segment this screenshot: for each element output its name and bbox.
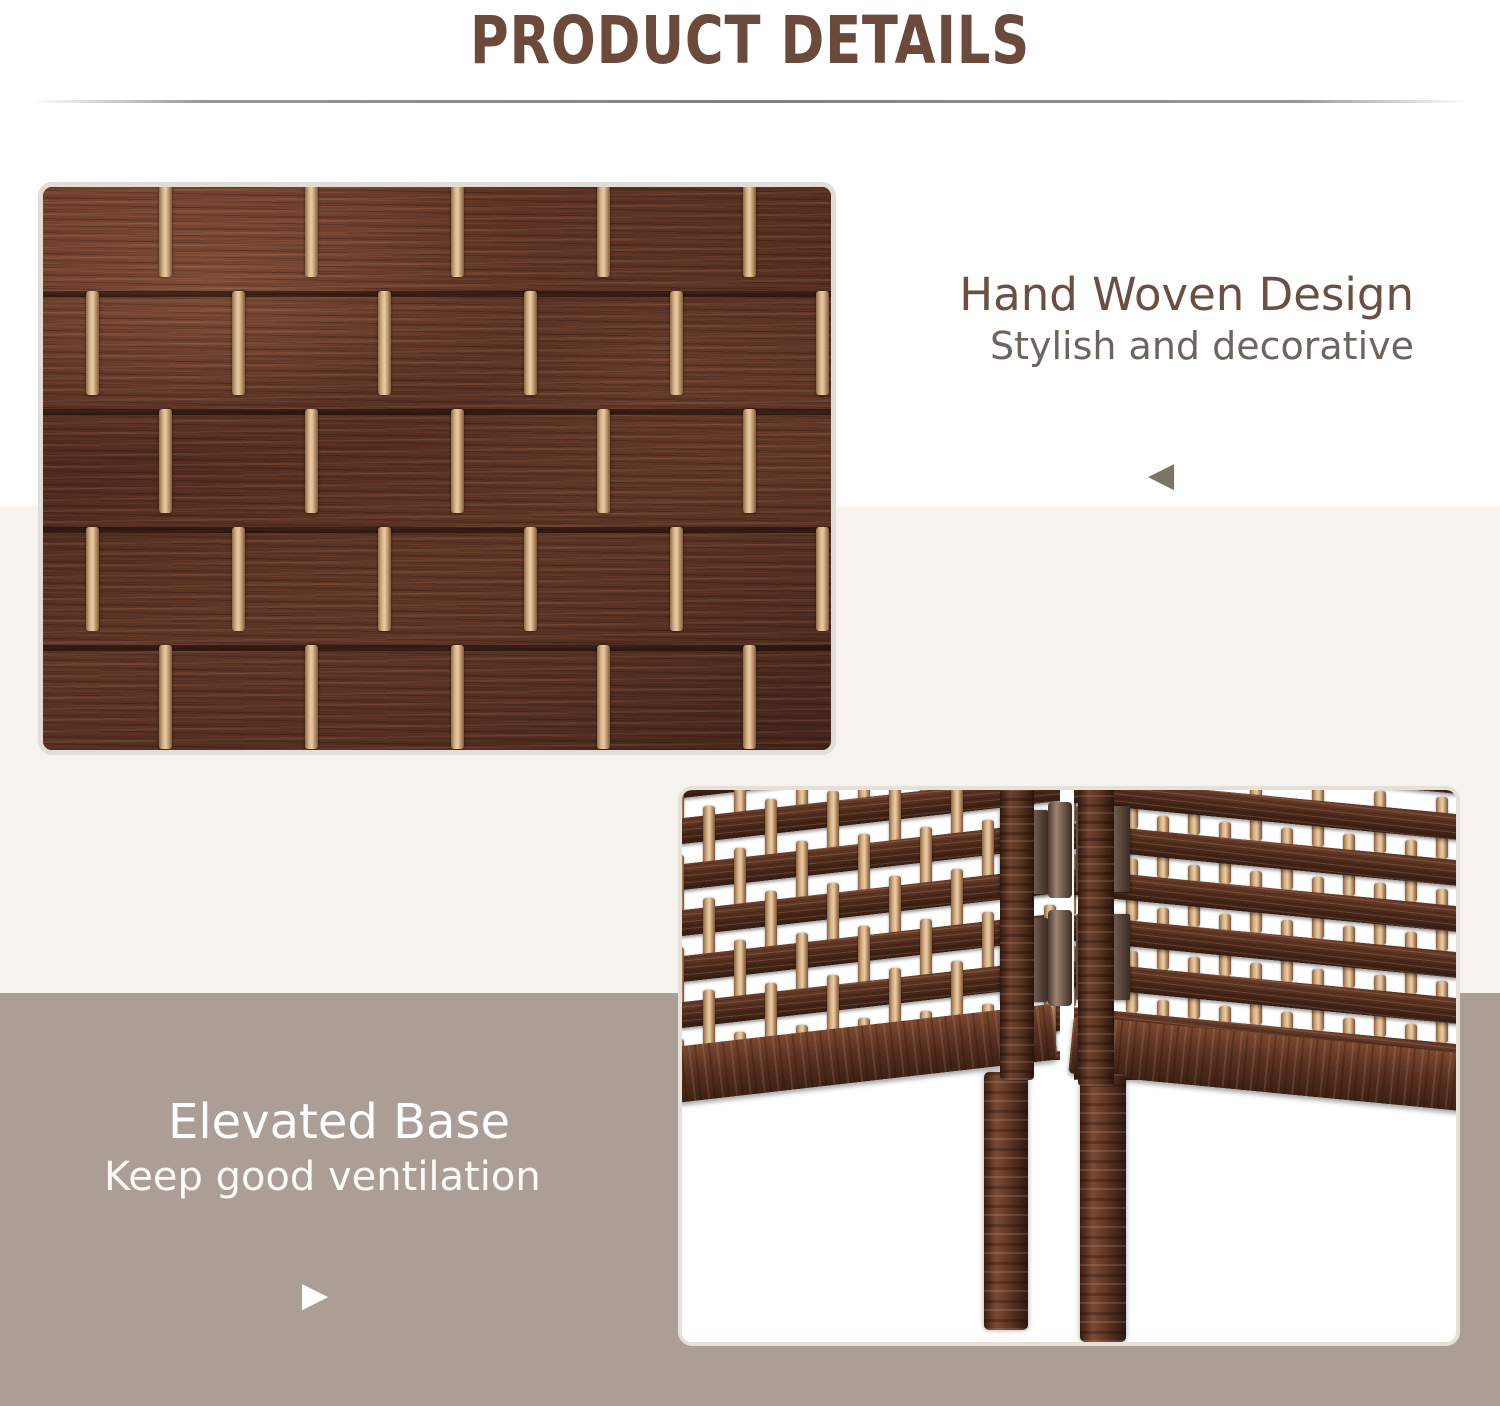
feature-callout-elevated-base: Elevated Base Keep good ventilation xyxy=(60,1096,600,1201)
weave-rod xyxy=(743,187,756,277)
weave-rod xyxy=(305,645,318,749)
weave-rod xyxy=(524,291,537,395)
weave-vertical-rod xyxy=(827,791,839,853)
weave-vertical-rod xyxy=(827,883,839,945)
weave-rod xyxy=(816,291,829,395)
weave-vertical-rod xyxy=(734,940,746,1002)
weave-rod xyxy=(86,527,99,631)
weave-vertical-rod xyxy=(951,869,963,931)
weave-vertical-rod xyxy=(796,933,808,995)
weave-vertical-rod xyxy=(765,891,777,953)
weave-rod xyxy=(451,645,464,749)
weave-rod xyxy=(816,527,829,631)
leg-right xyxy=(1080,1074,1126,1342)
weave-rod xyxy=(232,291,245,395)
feature-subtitle: Stylish and decorative xyxy=(880,324,1414,370)
weave-vertical-rod xyxy=(889,790,901,846)
weave-rod xyxy=(597,409,610,513)
feature-title: Hand Woven Design xyxy=(880,270,1414,320)
weave-vertical-rod xyxy=(682,855,684,917)
weave-rod xyxy=(305,187,318,277)
feature-subtitle: Keep good ventilation xyxy=(104,1153,600,1201)
corner-post-right xyxy=(1078,790,1114,1086)
hinge-pin xyxy=(1048,910,1072,1006)
weave-vertical-rod xyxy=(982,912,994,974)
weave-vertical-rod xyxy=(858,926,870,988)
weave-vertical-rod xyxy=(858,834,870,896)
weave-rod xyxy=(305,409,318,513)
weave-rod xyxy=(86,291,99,395)
weave-vertical-rod xyxy=(682,947,684,1009)
woven-texture-image xyxy=(43,187,831,750)
weave-rod xyxy=(159,187,172,277)
weave-rod xyxy=(451,187,464,277)
weave-vertical-rod xyxy=(765,799,777,861)
weave-rod xyxy=(743,645,756,749)
leg-left xyxy=(984,1072,1028,1330)
weave-vertical-rod xyxy=(920,919,932,981)
weave-rod xyxy=(378,527,391,631)
arrow-right-icon: ▶ xyxy=(302,1278,328,1312)
weave-rod xyxy=(524,527,537,631)
weave-rod xyxy=(670,527,683,631)
weave-rod xyxy=(159,409,172,513)
woven-texture-closeup-photo xyxy=(38,182,836,755)
corner-post-left xyxy=(1000,790,1034,1080)
hinge-and-elevated-legs-photo xyxy=(678,786,1460,1346)
weave-vertical-rod xyxy=(703,898,715,960)
weave-rod xyxy=(451,409,464,513)
weave-vertical-rod xyxy=(982,820,994,882)
weave-rod xyxy=(670,291,683,395)
weave-vertical-rod xyxy=(734,848,746,910)
weave-rod xyxy=(743,409,756,513)
hinge-pin xyxy=(1048,802,1072,898)
weave-vertical-rod xyxy=(703,806,715,868)
weave-vertical-rod xyxy=(796,841,808,903)
feature-callout-hand-woven: Hand Woven Design Stylish and decorative xyxy=(880,270,1414,370)
feature-title: Elevated Base xyxy=(168,1096,600,1149)
weave-rod xyxy=(159,645,172,749)
arrow-left-icon: ◀ xyxy=(1148,458,1174,492)
weave-vertical-rod xyxy=(889,876,901,938)
weave-rod xyxy=(232,527,245,631)
hinge-image xyxy=(682,790,1456,1342)
weave-rod xyxy=(378,291,391,395)
product-details-page: PRODUCT DETAILS Hand Woven Design Stylis… xyxy=(0,0,1500,1406)
header-divider xyxy=(30,100,1470,103)
page-title: PRODUCT DETAILS xyxy=(150,2,1350,79)
weave-rod xyxy=(597,187,610,277)
weave-vertical-rod xyxy=(920,827,932,889)
weave-rod xyxy=(597,645,610,749)
